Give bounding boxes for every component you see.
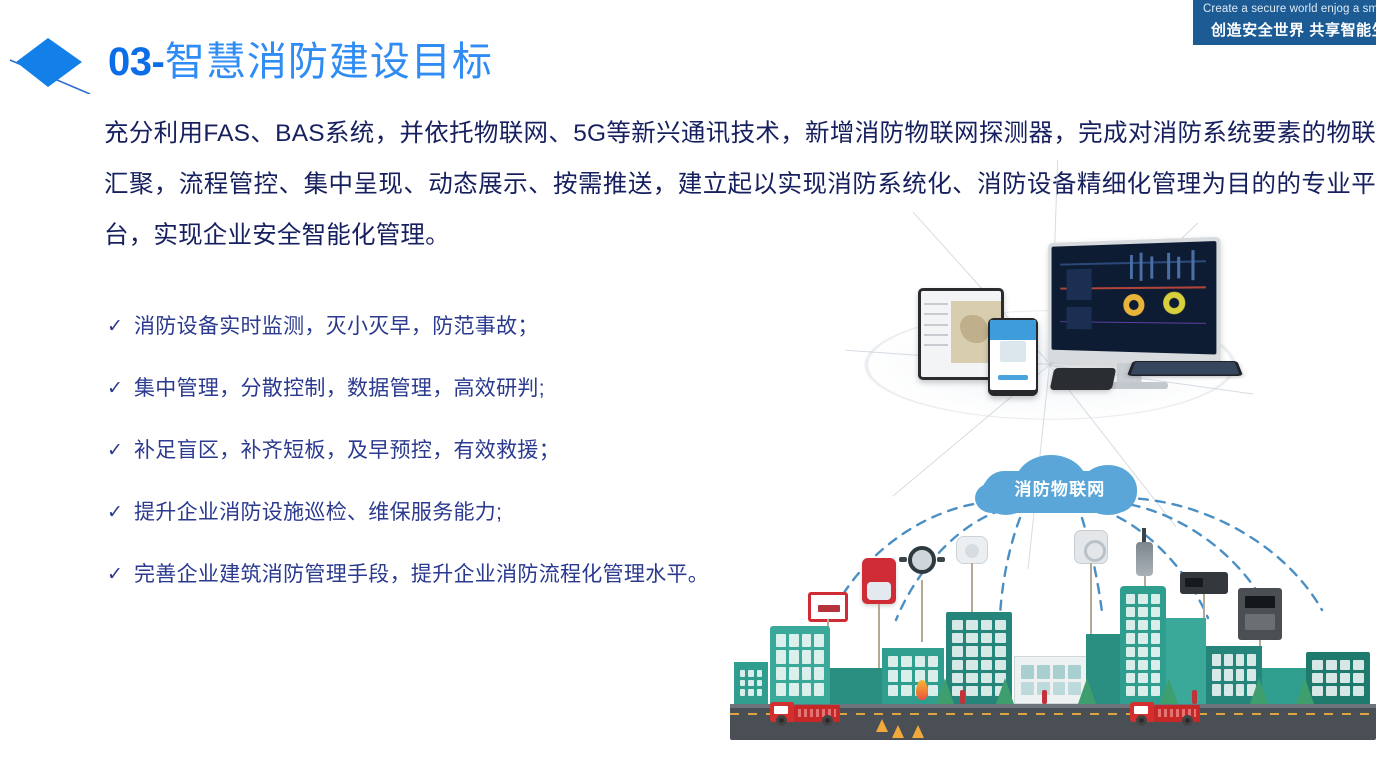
tree-icon [1296,678,1314,704]
tree-icon [1160,678,1178,704]
person-icon [1192,690,1197,704]
page-heading: 03-智慧消防建设目标 [0,20,700,100]
cloud-node: 消防物联网 [975,455,1145,517]
list-item-label: 集中管理，分散控制，数据管理，高效研判; [134,370,545,408]
check-icon: ✓ [104,556,134,594]
list-item-label: 提升企业消防设施巡检、维保服务能力; [134,494,502,532]
building [734,662,768,704]
building [770,626,830,704]
smoke-detector-sensor [956,536,988,564]
traffic-cone [912,725,924,738]
smartphone-device [988,318,1038,396]
list-item-label: 补足盲区，补齐短板，及早预控，有效救援； [134,432,560,470]
list-item-label: 消防设备实时监测，灭小灭早，防范事故； [134,308,539,346]
cloud-label: 消防物联网 [975,475,1145,500]
check-icon: ✓ [104,308,134,346]
person-icon [1042,690,1047,704]
page-title-main: 智慧消防建设目标 [165,40,493,84]
traffic-cone [876,719,888,732]
tree-icon [936,678,954,704]
wireless-gateway-sensor [1074,530,1108,564]
page-title: 03-智慧消防建设目标 [108,42,493,82]
tree-icon [1250,678,1268,704]
building [1014,656,1088,704]
building [1306,652,1370,704]
banner-english-slogan: Create a secure world enjog a smart l [1203,3,1376,15]
illustration-artwork: 消防物联网 [690,240,1376,740]
city-skyline [730,565,1376,740]
banner-chinese-slogan: 创造安全世界 共享智能生活 [1211,19,1376,40]
flame-icon [916,680,928,700]
traffic-cone [892,725,904,738]
set-top-box-device [1050,368,1117,390]
devices-scene [830,240,1270,430]
check-icon: ✓ [104,370,134,408]
tree-icon [996,678,1014,704]
page-title-dash: - [152,40,165,84]
building [882,648,944,704]
desktop-monitor-device [1040,240,1220,365]
check-icon: ✓ [104,432,134,470]
tree-icon [1078,678,1096,704]
corporate-banner: Create a secure world enjog a smart l 创造… [1193,0,1376,45]
check-icon: ✓ [104,494,134,532]
page-title-number: 03 [108,40,152,84]
building [830,668,882,704]
tablet-flat-device [1127,361,1243,376]
diamond-icon [8,32,108,94]
list-item-label: 完善企业建筑消防管理手段，提升企业消防流程化管理水平。 [134,556,709,594]
person-icon [960,690,965,704]
